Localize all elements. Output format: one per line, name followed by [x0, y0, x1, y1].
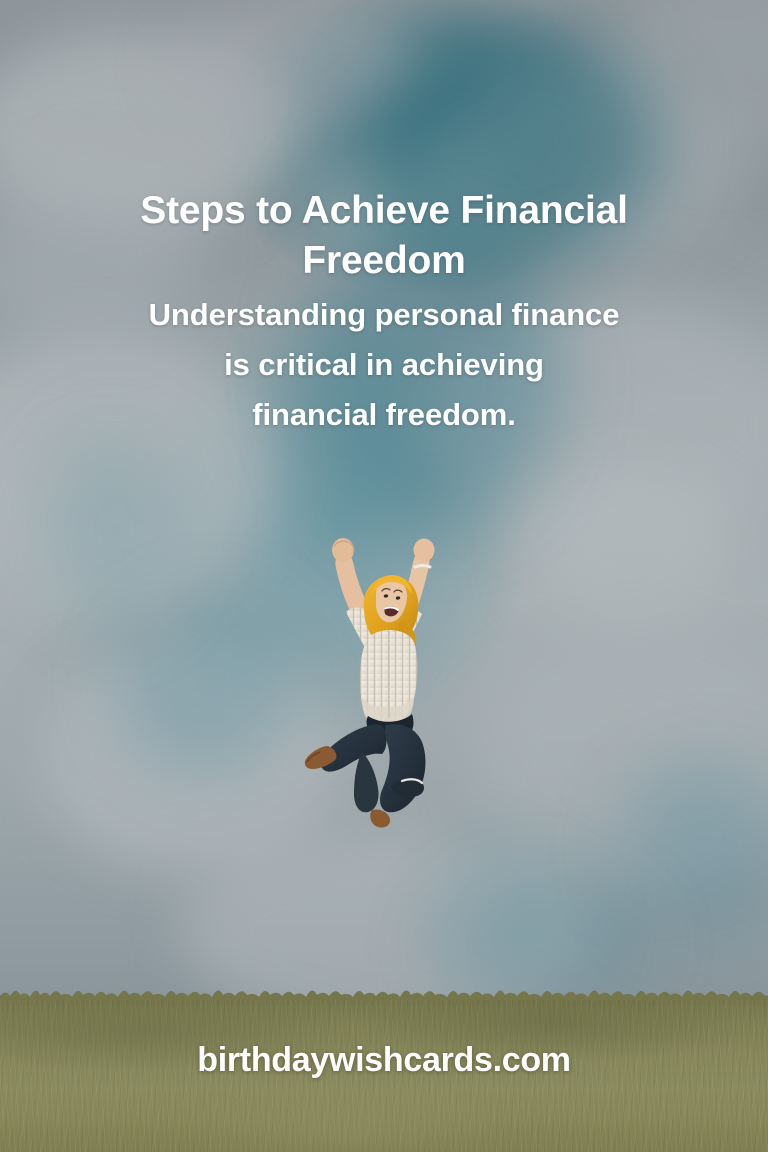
text-block: Steps to Achieve Financial Freedom Under… [0, 186, 768, 440]
subtitle-line-2: is critical in achieving [56, 340, 712, 390]
cloud-wisp [170, 0, 430, 140]
sky-teal-patch [620, 760, 768, 940]
poster: Steps to Achieve Financial Freedom Under… [0, 0, 768, 1152]
cloud-wisp [520, 470, 740, 630]
page-title: Steps to Achieve Financial Freedom [56, 186, 712, 286]
sky-teal-patch [120, 600, 300, 770]
jumping-woman-photo-subject [276, 520, 496, 850]
subtitle-line-1: Understanding personal finance [56, 290, 712, 340]
subtitle-line-3: financial freedom. [56, 390, 712, 440]
cloud-wisp [600, 0, 768, 160]
sky-teal-patch [40, 430, 190, 630]
page-subtitle: Understanding personal finance is critic… [56, 290, 712, 440]
cloud-wisp [470, 640, 768, 890]
website-watermark: birthdaywishcards.com [0, 1041, 768, 1080]
